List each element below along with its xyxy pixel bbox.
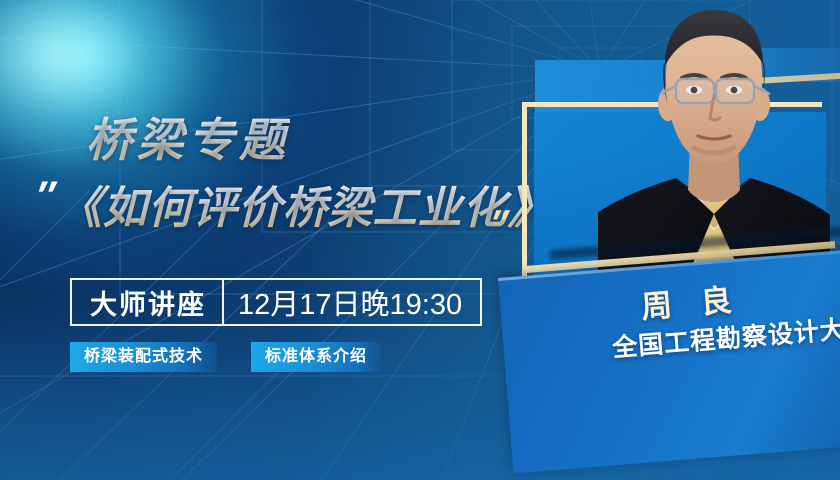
- topic-tag-list: 桥梁装配式技术 标准体系介绍: [70, 342, 381, 372]
- topic-tag-2: 标准体系介绍: [251, 342, 381, 372]
- lecture-info-bar: 大师讲座 12月17日晚19:30: [70, 278, 482, 326]
- gold-frame-left-leg: [522, 102, 527, 287]
- subtitle-row: ″ 《如何评价桥梁工业化》: [34, 172, 553, 236]
- page-title: 桥梁专题: [86, 104, 290, 170]
- quote-open-icon: ″: [30, 176, 56, 216]
- page-subtitle: 《如何评价桥梁工业化》: [58, 172, 553, 236]
- left-content: 桥梁专题 ″ 《如何评价桥梁工业化》 ″ 大师讲座 12月17日晚19:30 桥…: [0, 0, 530, 480]
- lecture-datetime: 12月17日晚19:30: [224, 281, 462, 323]
- topic-tag-1: 桥梁装配式技术: [70, 342, 217, 372]
- webinar-poster: 桥梁专题 ″ 《如何评价桥梁工业化》 ″ 大师讲座 12月17日晚19:30 桥…: [0, 0, 840, 480]
- speaker-composition: 周 良 全国工程勘察设计大师: [490, 0, 840, 480]
- lecture-type-label: 大师讲座: [72, 283, 222, 322]
